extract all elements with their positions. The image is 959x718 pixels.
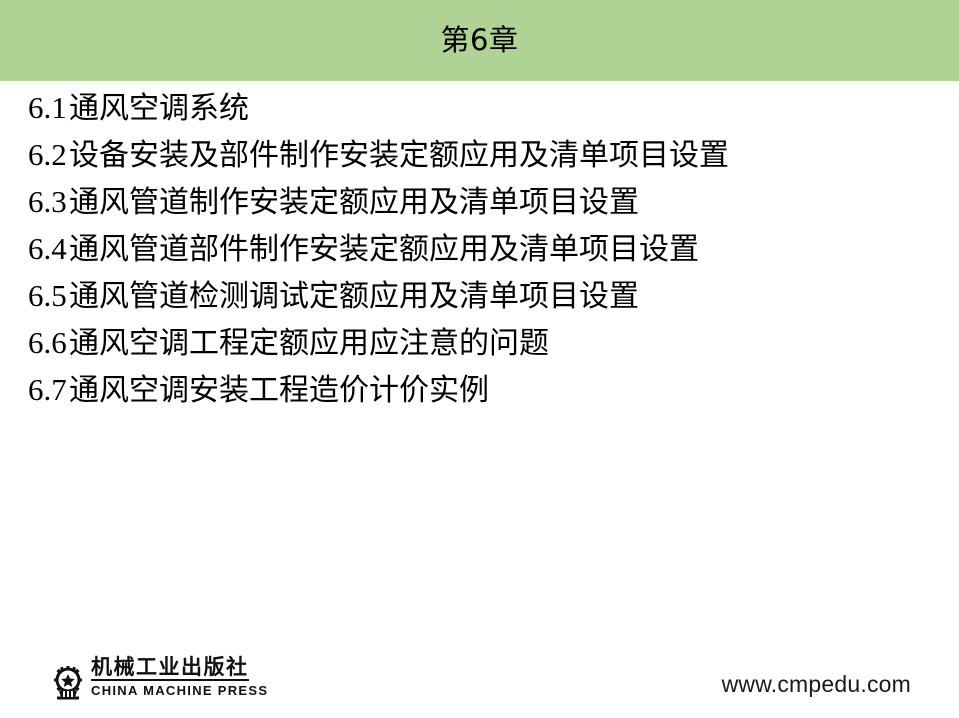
agenda-item-label: 通风空调工程定额应用应注意的问题 xyxy=(69,329,549,359)
publisher-wordmark: 机械工业出版社 CHINA MACHINE PRESS xyxy=(91,656,268,700)
agenda-item-label: 通风管道部件制作安装定额应用及清单项目设置 xyxy=(69,235,699,265)
agenda-item-number: 6.1 xyxy=(0,92,69,123)
agenda-list: 6.1 通风空调系统 6.2 设备安装及部件制作安装定额应用及清单项目设置 6.… xyxy=(0,92,959,421)
agenda-item-number: 6.6 xyxy=(0,327,69,358)
list-item[interactable]: 6.6 通风空调工程定额应用应注意的问题 xyxy=(0,327,959,374)
website-url: www.cmpedu.com xyxy=(722,671,911,698)
agenda-item-label: 通风空调系统 xyxy=(69,94,249,124)
list-item[interactable]: 6.4 通风管道部件制作安装定额应用及清单项目设置 xyxy=(0,233,959,280)
page-title: 第6章 xyxy=(441,26,519,55)
slide-header-band: 第6章 xyxy=(0,0,959,81)
publisher-logo: 机械工业出版社 CHINA MACHINE PRESS xyxy=(52,656,268,700)
agenda-item-label: 通风空调安装工程造价计价实例 xyxy=(69,376,489,406)
agenda-item-number: 6.3 xyxy=(0,186,69,217)
agenda-item-label: 通风管道制作安装定额应用及清单项目设置 xyxy=(69,188,639,218)
list-item[interactable]: 6.2 设备安装及部件制作安装定额应用及清单项目设置 xyxy=(0,139,959,186)
agenda-item-label: 设备安装及部件制作安装定额应用及清单项目设置 xyxy=(69,141,729,171)
gear-star-emblem-icon xyxy=(52,666,84,700)
publisher-name-en: CHINA MACHINE PRESS xyxy=(91,683,268,700)
list-item[interactable]: 6.7 通风空调安装工程造价计价实例 xyxy=(0,374,959,421)
list-item[interactable]: 6.5 通风管道检测调试定额应用及清单项目设置 xyxy=(0,280,959,327)
list-item[interactable]: 6.1 通风空调系统 xyxy=(0,92,959,139)
agenda-item-label: 通风管道检测调试定额应用及清单项目设置 xyxy=(69,282,639,312)
agenda-item-number: 6.2 xyxy=(0,139,69,170)
publisher-name-cn: 机械工业出版社 xyxy=(91,656,249,681)
agenda-item-number: 6.7 xyxy=(0,374,69,405)
list-item[interactable]: 6.3 通风管道制作安装定额应用及清单项目设置 xyxy=(0,186,959,233)
agenda-item-number: 6.4 xyxy=(0,233,69,264)
agenda-item-number: 6.5 xyxy=(0,280,69,311)
slide-footer: 机械工业出版社 CHINA MACHINE PRESS www.cmpedu.c… xyxy=(0,638,959,718)
